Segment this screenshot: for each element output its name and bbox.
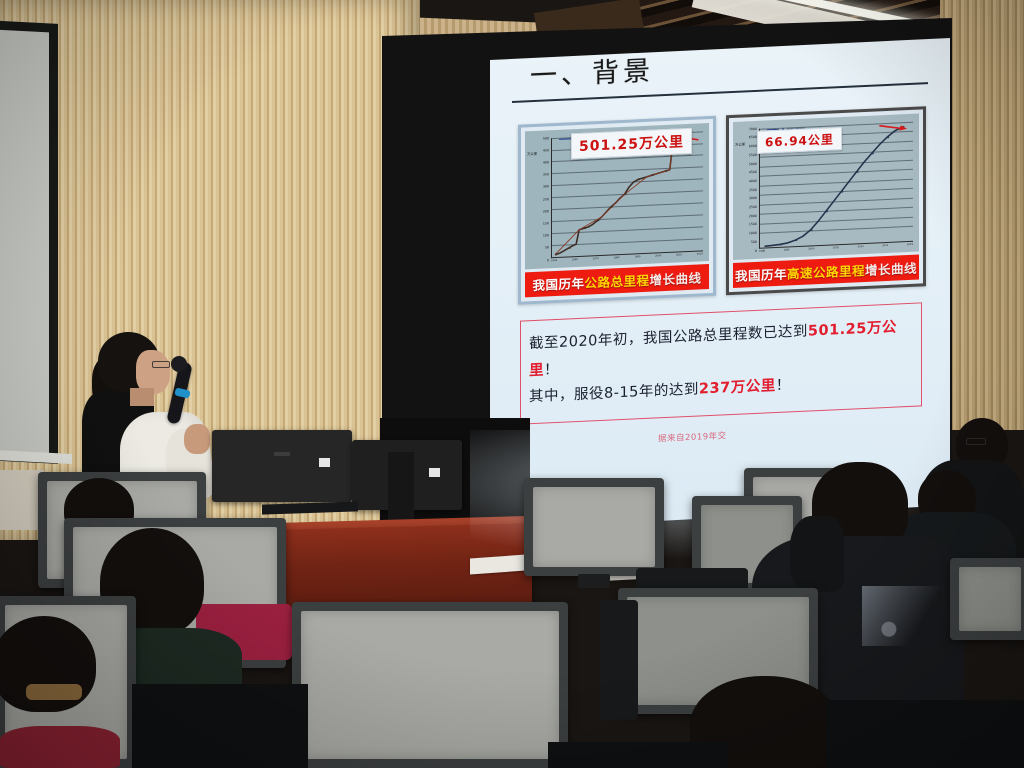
- x-tick: 1949: [551, 259, 557, 267]
- slide-statement-box: 截至2020年初，我国公路总里程数已达到501.25万公里！ 其中，服役8-15…: [520, 302, 922, 425]
- hair-clip: [26, 684, 82, 700]
- statement-line1-end: ！: [544, 361, 559, 378]
- y-tick: 500: [735, 240, 757, 245]
- x-tick: 2019: [697, 252, 703, 260]
- y-tick: 0: [527, 258, 549, 263]
- x-tick: 1980: [613, 256, 619, 264]
- glasses-icon: [152, 361, 170, 368]
- monitor-sticker: [319, 458, 330, 467]
- presenter-neck: [130, 388, 154, 406]
- y-tick: 4000: [735, 179, 757, 184]
- y-tick: 2500: [735, 205, 757, 210]
- microphone-head: [171, 356, 187, 372]
- chart-caption-left: 我国历年公路总里程增长曲线: [525, 264, 709, 297]
- x-tick: 2010: [858, 245, 864, 253]
- y-tick: 300: [527, 185, 549, 190]
- x-tick: 2000: [655, 254, 661, 262]
- y-tick: 200: [527, 209, 549, 214]
- projected-slide: 一、背景 万公里 500 450 400 350 300 250: [490, 38, 950, 530]
- shirt-graphic-print: [862, 586, 958, 646]
- x-tick: 2019: [907, 242, 913, 250]
- y-tick: 0: [735, 248, 757, 253]
- student-body: [0, 726, 120, 768]
- y-tick: 1000: [735, 231, 757, 236]
- chart-card-expressway-mileage: 万公里 7000 6500 6000 5500 5000 4500 4000 3…: [726, 106, 926, 295]
- y-tick: 450: [527, 148, 549, 153]
- monitor-stand: [578, 574, 610, 588]
- monitor-sticker: [429, 468, 440, 477]
- lab-desk-front: [548, 742, 728, 768]
- monitor-logo: [274, 452, 290, 456]
- computer-tower: [388, 452, 414, 522]
- glasses-icon: [966, 438, 986, 445]
- y-tick: 4500: [735, 170, 757, 175]
- y-tick: 7000: [735, 127, 757, 132]
- caption-highlight: 高速公路里程: [787, 263, 865, 282]
- podium-monitor-back: [212, 430, 352, 502]
- y-axis-ticks-right: 7000 6500 6000 5500 5000 4500 4000 3500 …: [735, 127, 757, 254]
- y-tick: 3000: [735, 196, 757, 201]
- monitor-panel: [301, 611, 559, 759]
- y-tick: 2000: [735, 214, 757, 219]
- caption-highlight: 公路总里程: [584, 272, 649, 290]
- statement-line2-end: ！: [776, 378, 791, 395]
- x-tick: 2015: [882, 244, 888, 252]
- chart-callout-total-mileage: 501.25万公里: [571, 128, 692, 159]
- lab-chair: [600, 600, 638, 720]
- y-tick: 400: [527, 160, 549, 165]
- lab-desk-front: [826, 700, 1024, 768]
- y-tick: 500: [527, 136, 549, 141]
- student-arm: [790, 516, 844, 592]
- caption-suffix: 增长曲线: [649, 270, 701, 287]
- monitor-panel: [959, 567, 1021, 631]
- lab-monitor-back: [524, 478, 664, 576]
- presenter-hand: [184, 424, 210, 454]
- wood-slat-wall-right: [940, 0, 1024, 430]
- chart-callout-expressway-mileage: 66.94公里: [757, 127, 842, 154]
- lecture-hall-photo: 一、背景 万公里 500 450 400 350 300 250: [0, 0, 1024, 768]
- x-tick: 1970: [593, 257, 599, 265]
- x-tick: 1995: [784, 248, 790, 256]
- chart-caption-right: 我国历年高速公路里程增长曲线: [733, 254, 919, 287]
- y-axis-ticks-left: 500 450 400 350 300 250 200 150 100 50 0: [527, 136, 549, 263]
- chart-card-total-road-mileage: 万公里 500 450 400 350 300 250 200 150 100 …: [518, 115, 716, 304]
- x-tick: 1960: [572, 258, 578, 266]
- y-tick: 5000: [735, 161, 757, 166]
- monitor-panel: [533, 487, 655, 567]
- x-tick: 2010: [676, 253, 682, 261]
- y-tick: 250: [527, 197, 549, 202]
- lab-monitor-back: [950, 558, 1024, 640]
- statement-line2-text: 其中，服役8-15年的达到: [529, 382, 699, 406]
- x-tick: 1990: [634, 255, 640, 263]
- y-tick: 100: [527, 234, 549, 239]
- y-tick: 5500: [735, 153, 757, 158]
- slide-source-note: 据来自2019年交: [658, 420, 932, 444]
- lab-monitor-back: [292, 602, 568, 768]
- y-tick: 350: [527, 173, 549, 178]
- caption-prefix: 我国历年: [735, 266, 787, 283]
- y-tick: 1500: [735, 222, 757, 227]
- chart-plot-area-right: 万公里 7000 6500 6000 5500 5000 4500 4000 3…: [733, 113, 919, 259]
- x-tick: 2005: [833, 246, 839, 254]
- y-tick: 50: [527, 246, 549, 251]
- lab-desk-front: [132, 684, 308, 768]
- y-tick: 6000: [735, 144, 757, 149]
- y-tick: 3500: [735, 187, 757, 192]
- wall-whiteboard: [0, 20, 58, 464]
- charts-row: 万公里 500 450 400 350 300 250 200 150 100 …: [518, 106, 926, 305]
- caption-prefix: 我国历年: [532, 275, 584, 292]
- chart-plot-area-left: 万公里 500 450 400 350 300 250 200 150 100 …: [525, 123, 709, 269]
- statement-line2-number: 237万公里: [699, 378, 776, 397]
- y-tick: 6500: [735, 135, 757, 140]
- y-tick: 150: [527, 221, 549, 226]
- x-tick: 2000: [808, 247, 814, 255]
- caption-suffix: 增长曲线: [865, 260, 917, 277]
- x-tick: 1988: [759, 249, 765, 257]
- statement-line1-text: 截至2020年初，我国公路总里程数已达到: [529, 323, 808, 352]
